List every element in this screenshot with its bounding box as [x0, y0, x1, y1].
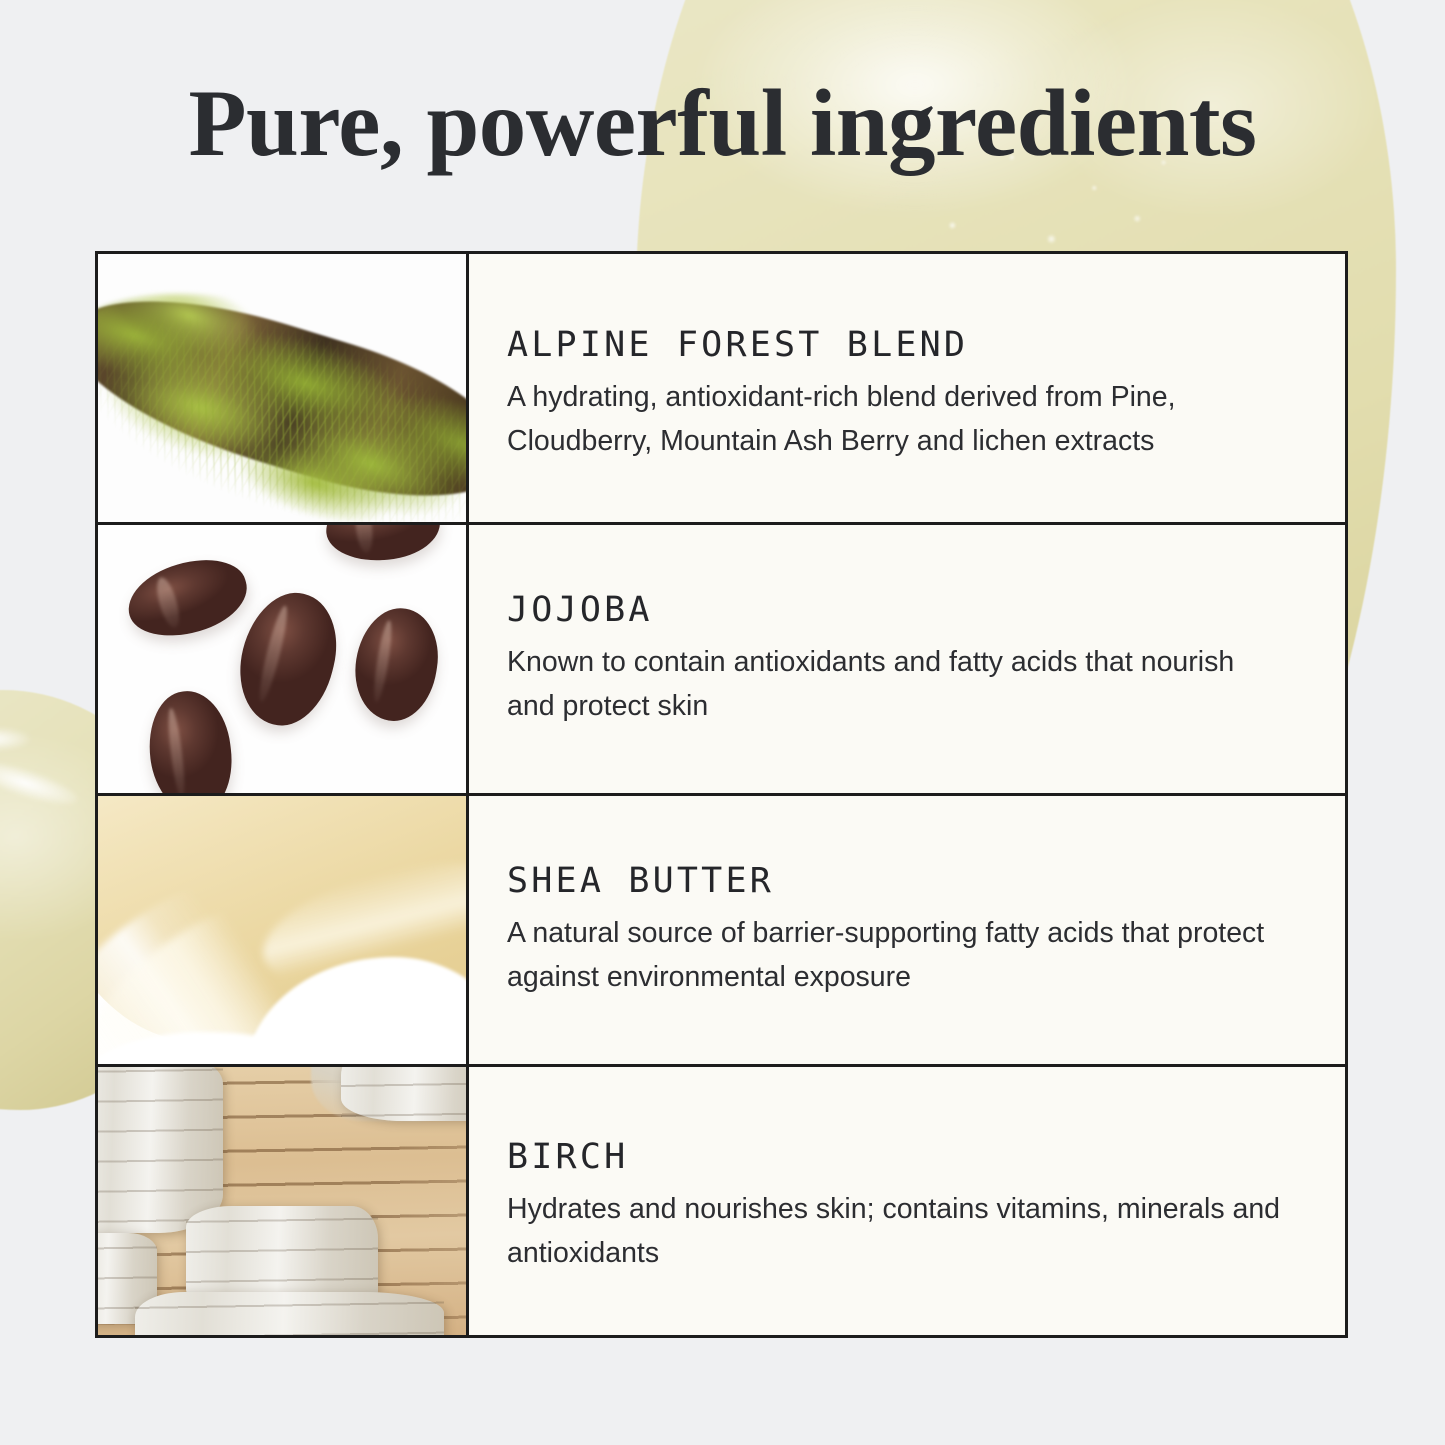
moss-strands [98, 254, 469, 522]
table-row: BIRCH Hydrates and nourishes skin; conta… [98, 1067, 1345, 1335]
ingredient-text-alpine-forest-blend: ALPINE FOREST BLEND A hydrating, antioxi… [469, 254, 1345, 522]
birch-bark-curl [135, 1292, 444, 1335]
ingredient-name: JOJOBA [507, 590, 1285, 630]
birch-bark-curl [186, 1206, 377, 1302]
table-row: SHEA BUTTER A natural source of barrier-… [98, 796, 1345, 1067]
table-row: JOJOBA Known to contain antioxidants and… [98, 525, 1345, 796]
jojoba-seed [347, 602, 445, 726]
moss-photo-art [98, 254, 466, 522]
ingredient-text-shea-butter: SHEA BUTTER A natural source of barrier-… [469, 796, 1345, 1064]
jojoba-photo-art [98, 525, 466, 793]
ingredient-name: SHEA BUTTER [507, 861, 1285, 901]
jojoba-seed [142, 687, 237, 793]
ingredient-image-shea-butter [98, 796, 469, 1064]
ingredient-image-alpine-forest-blend [98, 254, 469, 522]
ingredient-image-birch [98, 1067, 469, 1335]
ingredient-text-birch: BIRCH Hydrates and nourishes skin; conta… [469, 1067, 1345, 1335]
ingredient-description: A hydrating, antioxidant-rich blend deri… [507, 376, 1285, 463]
page-title: Pure, powerful ingredients [0, 74, 1445, 174]
birch-bark-photo-art [98, 1067, 466, 1335]
ingredient-description: Hydrates and nourishes skin; contains vi… [507, 1188, 1285, 1275]
ingredient-table: ALPINE FOREST BLEND A hydrating, antioxi… [95, 251, 1348, 1338]
shea-butter-photo-art [98, 796, 466, 1064]
ingredient-description: Known to contain antioxidants and fatty … [507, 641, 1285, 728]
ingredient-name: ALPINE FOREST BLEND [507, 325, 1285, 365]
ingredient-description: A natural source of barrier-supporting f… [507, 912, 1285, 999]
table-row: ALPINE FOREST BLEND A hydrating, antioxi… [98, 254, 1345, 525]
birch-bark-curl [341, 1067, 466, 1121]
jojoba-seed [323, 525, 443, 566]
jojoba-seed [120, 547, 256, 647]
ingredient-image-jojoba [98, 525, 469, 793]
jojoba-seed [227, 583, 349, 735]
ingredient-name: BIRCH [507, 1137, 1285, 1177]
ingredient-text-jojoba: JOJOBA Known to contain antioxidants and… [469, 525, 1345, 793]
